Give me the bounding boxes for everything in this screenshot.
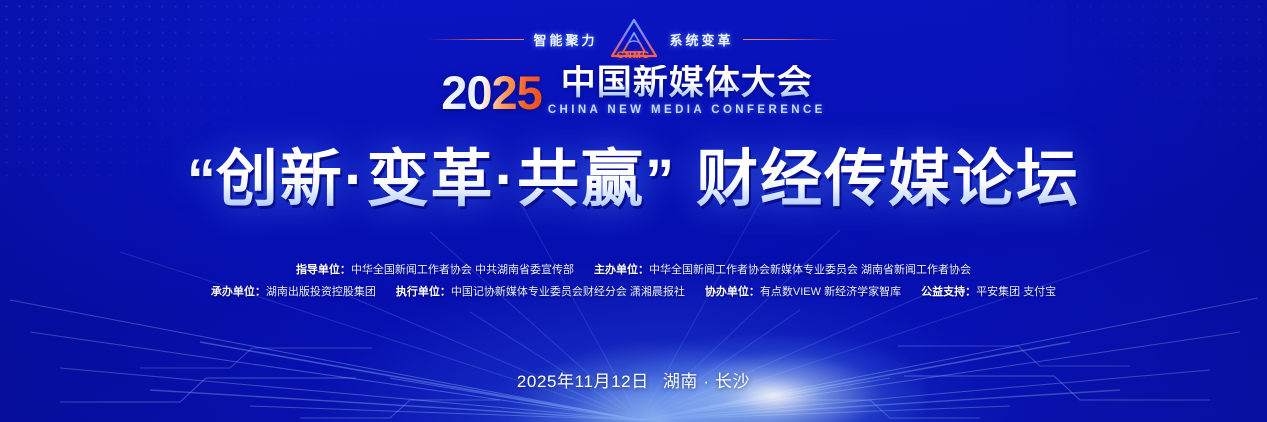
event-year: 2025 bbox=[441, 69, 542, 116]
credit-label-charity-support: 公益支持： bbox=[921, 286, 976, 298]
headline-theme: 创新·变革·共赢 bbox=[216, 140, 645, 219]
credit-label-guidance: 指导单位： bbox=[296, 264, 351, 276]
credit-value-guidance: 中华全国新闻工作者协会 中共湖南省委宣传部 bbox=[351, 264, 574, 276]
event-name-en: CHINA NEW MEDIA CONFERENCE bbox=[548, 104, 826, 116]
headline-forum: 财经传媒论坛 bbox=[696, 140, 1080, 219]
page-title: “创新·变革·共赢”财经传媒论坛 bbox=[0, 140, 1267, 219]
credit-label-executor: 执行单位： bbox=[396, 286, 451, 298]
tagline-right: 系统变革 bbox=[670, 30, 734, 49]
headline-close-quote: ” bbox=[645, 144, 674, 218]
event-location: 湖南 · 长沙 bbox=[663, 372, 750, 391]
tagline-left: 智能聚力 bbox=[533, 30, 597, 49]
event-title-row: 2025 中国新媒体大会 CHINA NEW MEDIA CONFERENCE bbox=[0, 60, 1267, 116]
credit-value-charity-support: 平安集团 支付宝 bbox=[976, 286, 1056, 298]
credit-label-host: 主办单位： bbox=[594, 264, 649, 276]
headline-open-quote: “ bbox=[187, 144, 216, 218]
cnmc-logo-wordmark: CNMC bbox=[607, 50, 661, 61]
credit-label-coorganizer: 协办单位： bbox=[705, 286, 760, 298]
credit-line-1: 指导单位：中华全国新闻工作者协会 中共湖南省委宣传部主办单位：中华全国新闻工作者… bbox=[0, 259, 1267, 281]
event-date: 2025年11月12日 bbox=[517, 372, 649, 391]
tagline-rule-right bbox=[743, 39, 839, 40]
credit-value-host: 中华全国新闻工作者协会新媒体专业委员会 湖南省新闻工作者协会 bbox=[649, 264, 971, 276]
credit-value-executor: 中国记协新媒体专业委员会财经分会 潇湘晨报社 bbox=[451, 286, 685, 298]
cnmc-logo-icon: CNMC bbox=[607, 16, 661, 62]
conference-banner: 智能聚力 CNMC 系统变革 bbox=[0, 0, 1267, 422]
event-datetime-location: 2025年11月12日湖南 · 长沙 bbox=[0, 367, 1267, 392]
credit-label-organizer: 承办单位： bbox=[211, 286, 266, 298]
credit-value-organizer: 湖南出版投资控股集团 bbox=[266, 286, 376, 298]
tagline-row: 智能聚力 CNMC 系统变革 bbox=[0, 16, 1267, 62]
event-name-cn: 中国新媒体大会 bbox=[561, 65, 813, 101]
organizer-credits: 指导单位：中华全国新闻工作者协会 中共湖南省委宣传部主办单位：中华全国新闻工作者… bbox=[0, 259, 1267, 303]
credit-value-coorganizer: 有点数VIEW 新经济学家智库 bbox=[760, 286, 901, 298]
event-logo-lockup: 智能聚力 CNMC 系统变革 bbox=[0, 16, 1267, 116]
credit-line-2: 承办单位：湖南出版投资控股集团执行单位：中国记协新媒体专业委员会财经分会 潇湘晨… bbox=[0, 281, 1267, 303]
tagline-rule-left bbox=[428, 39, 524, 40]
event-name-block: 中国新媒体大会 CHINA NEW MEDIA CONFERENCE bbox=[548, 65, 826, 116]
